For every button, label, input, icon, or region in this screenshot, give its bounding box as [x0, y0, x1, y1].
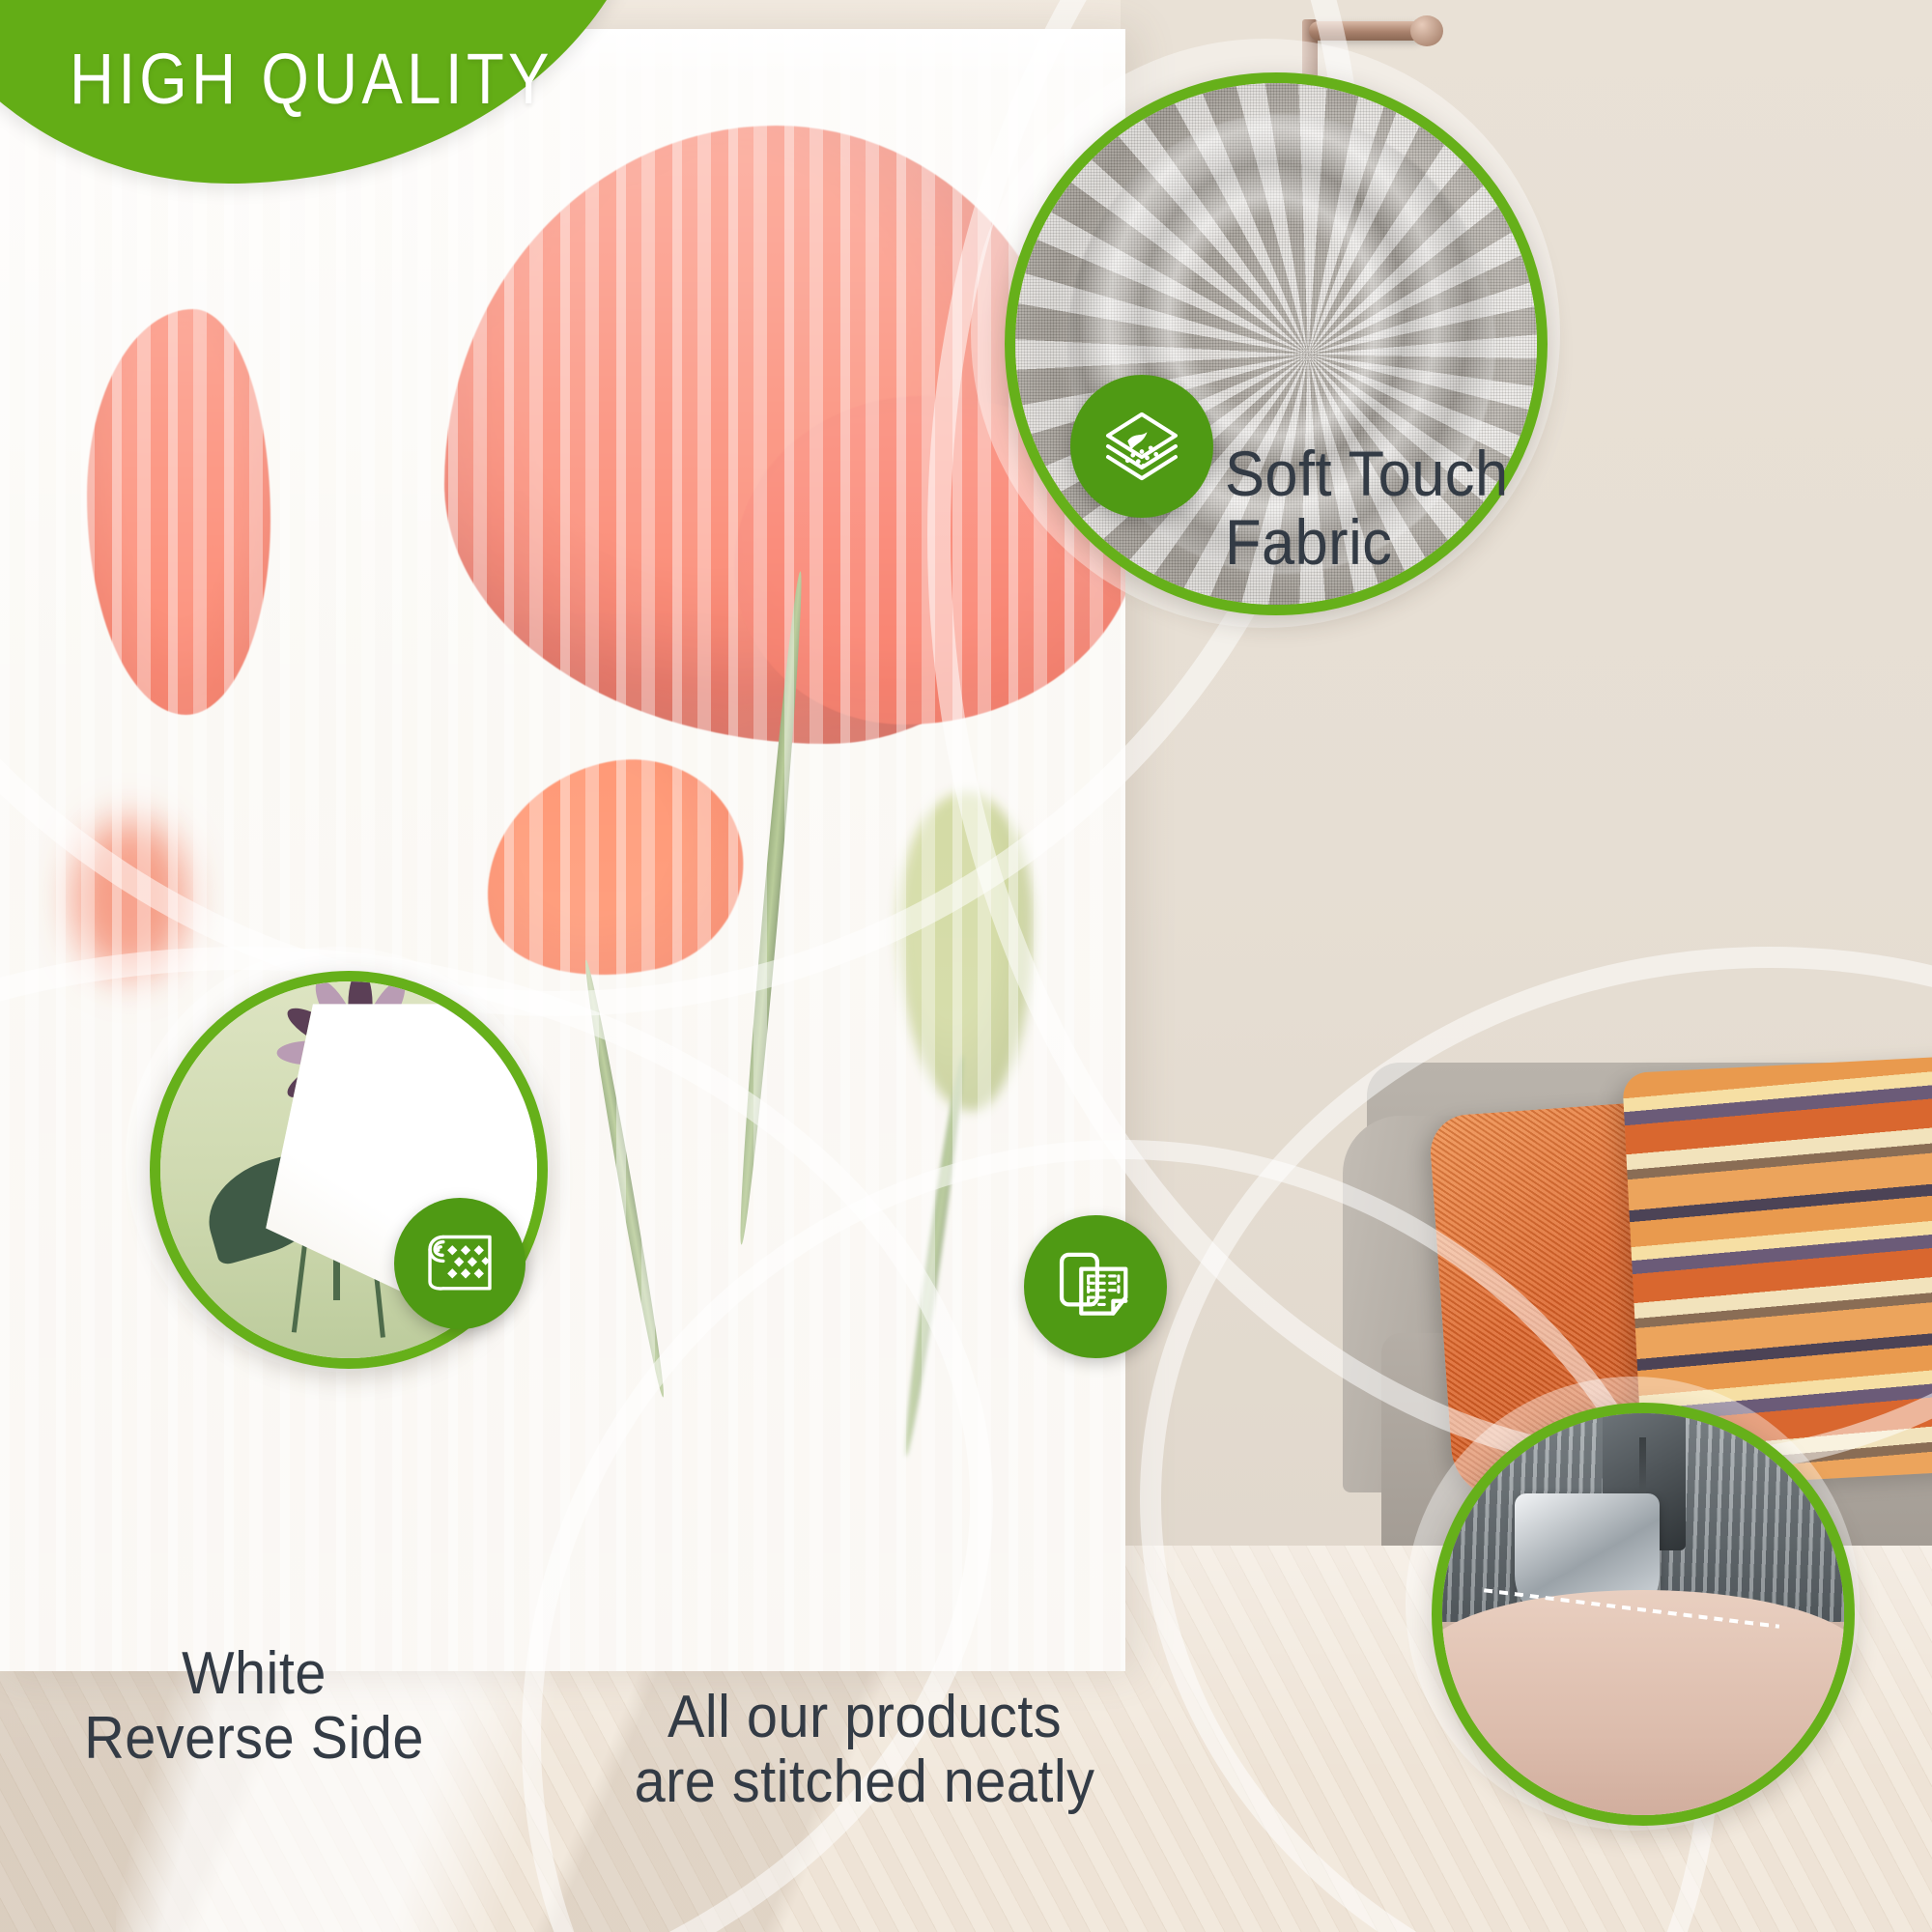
stitched-layers-icon — [1024, 1215, 1167, 1358]
white-reverse-side-caption: White Reverse Side — [52, 1642, 457, 1772]
fabric-roll-icon — [394, 1198, 526, 1329]
stitched-neatly-caption: All our products are stitched neatly — [586, 1686, 1144, 1815]
fabric-layers-icon — [1070, 375, 1213, 518]
soft-touch-fabric-caption: Soft Touch Fabric — [1225, 440, 1509, 578]
fabric-under-needle — [1432, 1590, 1855, 1826]
product-feature-poster: HIGH QUALITY Soft Touch Fabric — [0, 0, 1932, 1932]
high-quality-label: HIGH QUALITY — [0, 38, 554, 184]
stitched-neatly-photo — [1432, 1403, 1855, 1826]
